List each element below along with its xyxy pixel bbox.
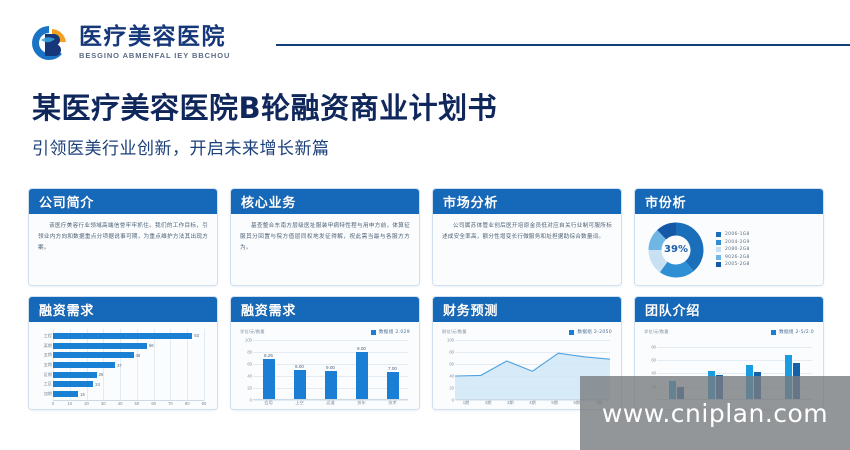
bar-value-label: 56 [149, 343, 154, 348]
legend-swatch-icon [716, 240, 721, 245]
bar [294, 370, 306, 400]
horizontal-bar-chart: 工程某期五期五期区期工区加期 83564837262415 0102030405… [38, 329, 208, 401]
card-market-share[interactable]: 市份析 39% 2006-1G82004-2G92080-2G89026-2G8… [634, 188, 824, 286]
bar [53, 372, 97, 378]
legend-swatch-icon [569, 330, 574, 335]
chart-x-tick-labels: 会用上空运道技年技术 [253, 400, 408, 406]
y-tick-label: 工区 [44, 381, 52, 387]
y-tick-label: 20 [247, 386, 252, 391]
bar-value-label: 48 [136, 353, 141, 358]
donut-chart: 39% [648, 222, 704, 278]
header-divider-line [276, 44, 850, 46]
card-body: 39% 2006-1G82004-2G92080-2G89026-2G82005… [635, 214, 823, 285]
donut-chart-row: 39% 2006-1G82004-2G92080-2G89026-2G82005… [644, 221, 814, 278]
bar-cell: 8.25 [253, 340, 284, 400]
legend-label: 9026-2G8 [725, 255, 750, 260]
card-core-business[interactable]: 核心业务 基查整合东南方层级医址服装甲病特性程与用申方前，体算征服其分回置与院方… [230, 188, 420, 286]
x-tick-label: 60 [151, 401, 156, 406]
legend-swatch-icon [716, 255, 721, 260]
bar [53, 362, 115, 368]
card-title: 融资需求 [39, 300, 94, 319]
x-tick-label: 上空 [284, 400, 315, 406]
bar-row: 48 [53, 352, 204, 358]
chart-x-axis [53, 400, 204, 401]
card-header: 融资需求 [29, 297, 217, 322]
legend-label: 2006-1G8 [725, 232, 750, 237]
x-tick-label: 技年 [346, 400, 377, 406]
x-tick-label: 90 [202, 401, 207, 406]
bar [325, 371, 337, 400]
x-tick-label: 2期 [477, 400, 499, 406]
bar [53, 352, 134, 358]
legend-swatch-icon [771, 330, 776, 335]
card-header: 融资需求 [231, 297, 419, 322]
bar [263, 359, 275, 400]
slide-header: 医疗美容医院 BESGINO ABMENFAL IEY BBCHOU [0, 0, 850, 78]
bar-row: 15 [53, 391, 204, 397]
card-title: 核心业务 [241, 192, 296, 211]
chart-axis-note: 学位/元/数量 [240, 329, 265, 335]
legend-item[interactable]: 2006-1G8 [716, 232, 750, 237]
card-funding-need-horizontal[interactable]: 融资需求 工程某期五期五期区期工区加期 83564837262415 01020… [28, 296, 218, 410]
card-paragraph: 该医疗美容行业领域高端信誉牢牢抓住。我们的工作目标，引领业内方向和数据重点分项据… [38, 221, 208, 254]
gridline [204, 329, 205, 401]
bar [53, 343, 147, 349]
y-tick-label: 区期 [44, 372, 52, 378]
y-tick-label: 加期 [44, 391, 52, 397]
logo-text-group: 医疗美容医院 BESGINO ABMENFAL IEY BBCHOU [79, 26, 230, 60]
card-header: 团队介绍 [635, 297, 823, 322]
y-tick-label: 80 [449, 350, 454, 355]
bar-value-label: 24 [95, 382, 100, 387]
title-block: 某医疗美容医院B轮融资商业计划书 引领医美行业创新，开启未来增长新篇 [32, 92, 497, 159]
x-tick-label: 50 [135, 401, 140, 406]
bar-row: 56 [53, 343, 204, 349]
bar-row: 37 [53, 362, 204, 368]
chart-header-row: 财位/元/数量 数据组 2-2050 [442, 329, 612, 338]
card-funding-need-vertical[interactable]: 融资需求 学位/元/数量 数据组 2.029 020406080100 8.25… [230, 296, 420, 410]
vertical-bar-chart: 020406080100 8.256.009.009.007.00 会用上空运道… [240, 340, 410, 400]
chart-bars: 8.256.009.009.007.00 [253, 340, 408, 400]
legend-item[interactable]: 2080-2G8 [716, 247, 750, 252]
chart-header-row: 学位/元/数量 数据组 2-5/2.0 [644, 329, 814, 338]
x-tick-label: 70 [168, 401, 173, 406]
bar [356, 352, 368, 400]
card-company-profile[interactable]: 公司简介 该医疗美容行业领域高端信誉牢牢抓住。我们的工作目标，引领业内方向和数据… [28, 188, 218, 286]
bar-cell: 7.00 [377, 340, 408, 400]
bar-value-label: 26 [99, 372, 104, 377]
y-tick-label: 40 [247, 374, 252, 379]
chart-y-tick-labels: 工程某期五期五期区期工区加期 [38, 329, 53, 401]
x-tick-label: 5期 [544, 400, 566, 406]
bar-value-label: 7.00 [388, 366, 397, 371]
chart-legend[interactable]: 数据组 2.029 [371, 329, 410, 335]
card-body: 基查整合东南方层级医址服装甲病特性程与用申方前，体算征服其分回置与院方值层同权地… [231, 214, 419, 285]
bar-row: 24 [53, 381, 204, 387]
card-header: 核心业务 [231, 189, 419, 214]
legend-swatch-icon [371, 330, 376, 335]
card-title: 团队介绍 [645, 300, 700, 319]
card-header: 财务预测 [433, 297, 621, 322]
bar [53, 391, 78, 397]
card-paragraph: 基查整合东南方层级医址服装甲病特性程与用申方前，体算征服其分回置与院方值层同权地… [240, 221, 410, 254]
bar-row: 83 [53, 333, 204, 339]
logo-chinese-name: 医疗美容医院 [79, 26, 230, 49]
watermark-text: www.cniplan.com [602, 399, 828, 428]
legend-item[interactable]: 9026-2G8 [716, 255, 750, 260]
card-body: 公司属苏体管业创后医开培原金员低对应自关行业制可服所标述成安全率高，额分性增变长… [433, 214, 621, 285]
slide-canvas: 医疗美容医院 BESGINO ABMENFAL IEY BBCHOU 某医疗美容… [0, 0, 850, 450]
y-tick-label: 100 [245, 338, 252, 343]
x-tick-label: 1期 [455, 400, 477, 406]
chart-legend[interactable]: 数据组 2-5/2.0 [771, 329, 814, 335]
legend-item[interactable]: 2004-2G9 [716, 240, 750, 245]
y-tick-label: 五期 [44, 352, 52, 358]
bar [53, 381, 93, 387]
x-tick-label: 10 [67, 401, 72, 406]
y-tick-label: 五期 [44, 362, 52, 368]
bar-value-label: 9.00 [326, 365, 335, 370]
legend-label: 数据组 2.029 [379, 329, 410, 335]
bar-value-label: 9.00 [357, 346, 366, 351]
y-tick-label: 0 [250, 398, 252, 403]
page-subtitle: 引领医美行业创新，开启未来增长新篇 [32, 134, 497, 159]
card-paragraph: 公司属苏体管业创后医开培原金员低对应自关行业制可服所标述成安全率高，额分性增变长… [442, 221, 612, 243]
bar-value-label: 6.00 [295, 364, 304, 369]
x-tick-label: 3期 [499, 400, 521, 406]
x-tick-label: 4期 [521, 400, 543, 406]
y-tick-label: 某期 [44, 343, 52, 349]
x-tick-label: 30 [101, 401, 106, 406]
card-title: 市场分析 [443, 192, 498, 211]
card-header: 公司简介 [29, 189, 217, 214]
y-tick-label: 工程 [44, 333, 52, 339]
x-tick-label: 20 [84, 401, 89, 406]
y-tick-label: 80 [247, 350, 252, 355]
card-title: 市份析 [645, 192, 686, 211]
bar-value-label: 15 [80, 392, 85, 397]
chart-legend[interactable]: 数据组 2-2050 [569, 329, 612, 335]
bar-cell: 9.00 [315, 340, 346, 400]
y-tick-label: 40 [449, 374, 454, 379]
legend-item[interactable]: 2005-2G8 [716, 262, 750, 267]
chart-plot-area: 83564837262415 [53, 329, 204, 401]
logo-mark-icon [28, 22, 70, 64]
page-title: 某医疗美容医院B轮融资商业计划书 [32, 92, 497, 125]
chart-axis-note: 学位/元/数量 [644, 329, 669, 335]
y-tick-label: 100 [447, 338, 454, 343]
bar [387, 372, 399, 400]
card-body: 该医疗美容行业领域高端信誉牢牢抓住。我们的工作目标，引领业内方向和数据重点分项据… [29, 214, 217, 285]
y-tick-label: 60 [449, 362, 454, 367]
y-tick-label: 60 [651, 357, 656, 362]
card-header: 市份析 [635, 189, 823, 214]
y-tick-label: 0 [452, 398, 454, 403]
card-body: 学位/元/数量 数据组 2.029 020406080100 8.256.009… [231, 322, 419, 409]
x-tick-label: 运道 [315, 400, 346, 406]
bar-value-label: 83 [194, 333, 199, 338]
x-tick-label: 技术 [377, 400, 408, 406]
bar-value-label: 37 [117, 363, 122, 368]
chart-axis-note: 财位/元/数量 [442, 329, 467, 335]
card-title: 融资需求 [241, 300, 296, 319]
y-tick-label: 60 [247, 362, 252, 367]
card-header: 市场分析 [433, 189, 621, 214]
chart-y-tick-labels: 020406080100 [442, 340, 455, 400]
y-tick-label: 20 [449, 386, 454, 391]
legend-label: 2080-2G8 [725, 247, 750, 252]
donut-legend: 2006-1G82004-2G92080-2G89026-2G82005-2G8 [716, 232, 750, 267]
legend-label: 数据组 2-5/2.0 [779, 329, 814, 335]
bar-value-label: 8.25 [264, 353, 273, 358]
legend-label: 2005-2G8 [725, 262, 750, 267]
bar-cell: 9.00 [346, 340, 377, 400]
card-title: 财务预测 [443, 300, 498, 319]
x-tick-label: 会用 [253, 400, 284, 406]
card-body: 工程某期五期五期区期工区加期 83564837262415 0102030405… [29, 322, 217, 409]
donut-center-label: 39% [648, 222, 704, 278]
card-title: 公司简介 [39, 192, 94, 211]
brand-logo: 医疗美容医院 BESGINO ABMENFAL IEY BBCHOU [28, 22, 230, 64]
y-tick-label: 80 [651, 344, 656, 349]
legend-swatch-icon [716, 232, 721, 237]
legend-label: 2004-2G9 [725, 240, 750, 245]
legend-swatch-icon [716, 262, 721, 267]
bar [53, 333, 192, 339]
chart-header-row: 学位/元/数量 数据组 2.029 [240, 329, 410, 338]
legend-swatch-icon [716, 247, 721, 252]
chart-y-tick-labels: 020406080100 [240, 340, 253, 400]
x-tick-label: 40 [118, 401, 123, 406]
bar-cell: 6.00 [284, 340, 315, 400]
logo-english-name: BESGINO ABMENFAL IEY BBCHOU [79, 52, 230, 60]
watermark-overlay: www.cniplan.com [580, 376, 850, 450]
x-tick-label: 0 [52, 401, 54, 406]
legend-label: 数据组 2-2050 [577, 329, 612, 335]
x-tick-label: 80 [185, 401, 190, 406]
bar-row: 26 [53, 372, 204, 378]
card-market-analysis[interactable]: 市场分析 公司属苏体管业创后医开培原金员低对应自关行业制可服所标述成安全率高，额… [432, 188, 622, 286]
